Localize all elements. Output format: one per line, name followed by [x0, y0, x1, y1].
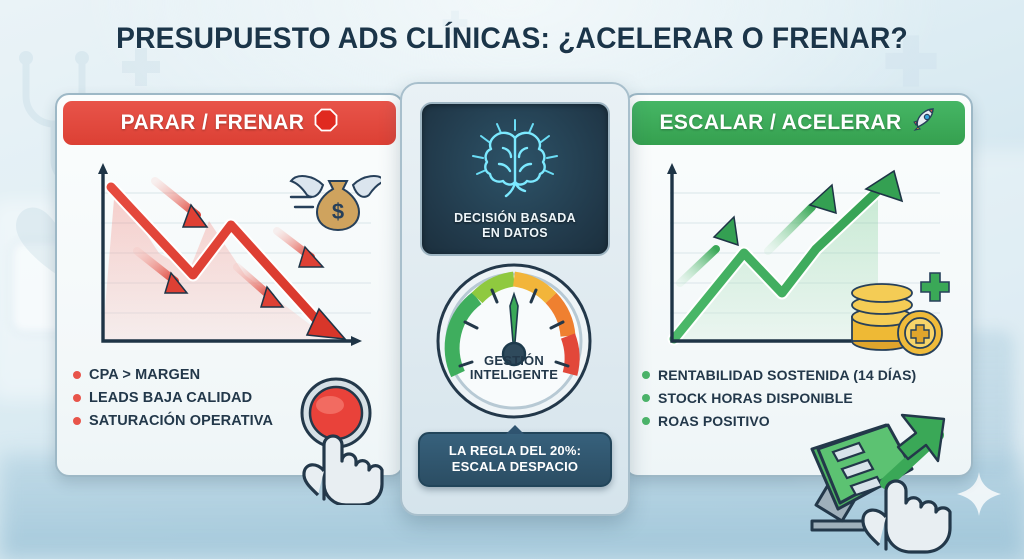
gold-coins-plus-icon [838, 269, 950, 359]
panel-scale-header: ESCALAR / ACELERAR [632, 101, 965, 145]
bullet-label: STOCK HORAS DISPONIBLE [658, 390, 853, 406]
bullet-dot-icon [642, 394, 650, 402]
svg-text:$: $ [332, 199, 344, 224]
rocket-icon [912, 107, 938, 139]
bullet-dot-icon [73, 417, 81, 425]
bullet-dot-icon [642, 417, 650, 425]
rule-callout-line2: ESCALA DESPACIO [420, 459, 610, 475]
bullet-label: LEADS BAJA CALIDAD [89, 390, 252, 406]
bullet-dot-icon [73, 394, 81, 402]
bullet-label: ROAS POSITIVO [658, 413, 770, 429]
rule-callout: LA REGLA DEL 20%: ESCALA DESPACIO [418, 432, 612, 487]
panel-stop-header: PARAR / FRENAR [63, 101, 396, 145]
page-title: PRESUPUESTO ADS CLÍNICAS: ¿ACELERAR O FR… [31, 22, 994, 56]
panel-decision: DECISIÓN BASADA EN DATOS [400, 82, 630, 516]
hand-pressing-green-accelerator-pedal-icon[interactable] [790, 405, 995, 555]
bullet-dot-icon [642, 371, 650, 379]
bullet-label: CPA > MARGEN [89, 367, 200, 383]
flying-money-bag-icon: $ [289, 167, 381, 239]
decision-label-line2: EN DATOS [454, 226, 576, 241]
gauge-label-line1: GESTIÓN [435, 354, 593, 368]
chart-down-trend: $ [71, 157, 387, 357]
stop-sign-icon [314, 108, 338, 138]
glowing-brain-icon [463, 118, 567, 209]
gauge-label-line2: INTELIGENTE [435, 368, 593, 382]
list-item: STOCK HORAS DISPONIBLE [642, 390, 962, 406]
hand-pressing-red-button-icon[interactable] [290, 375, 410, 505]
chart-up-trend [640, 157, 956, 357]
decision-card: DECISIÓN BASADA EN DATOS [420, 102, 610, 256]
gauge-label: GESTIÓN INTELIGENTE [435, 354, 593, 383]
list-item: RENTABILIDAD SOSTENIDA (14 DÍAS) [642, 367, 962, 383]
bullet-label: RENTABILIDAD SOSTENIDA (14 DÍAS) [658, 367, 916, 383]
bullet-label: SATURACIÓN OPERATIVA [89, 413, 273, 429]
decision-label: DECISIÓN BASADA EN DATOS [454, 211, 576, 241]
panel-stop-header-label: PARAR / FRENAR [121, 111, 305, 135]
decision-label-line1: DECISIÓN BASADA [454, 211, 576, 226]
rule-callout-line1: LA REGLA DEL 20%: [420, 443, 610, 459]
gauge-meter-icon: GESTIÓN INTELIGENTE [435, 262, 593, 420]
panel-scale-header-label: ESCALAR / ACELERAR [659, 111, 901, 135]
bullet-dot-icon [73, 371, 81, 379]
